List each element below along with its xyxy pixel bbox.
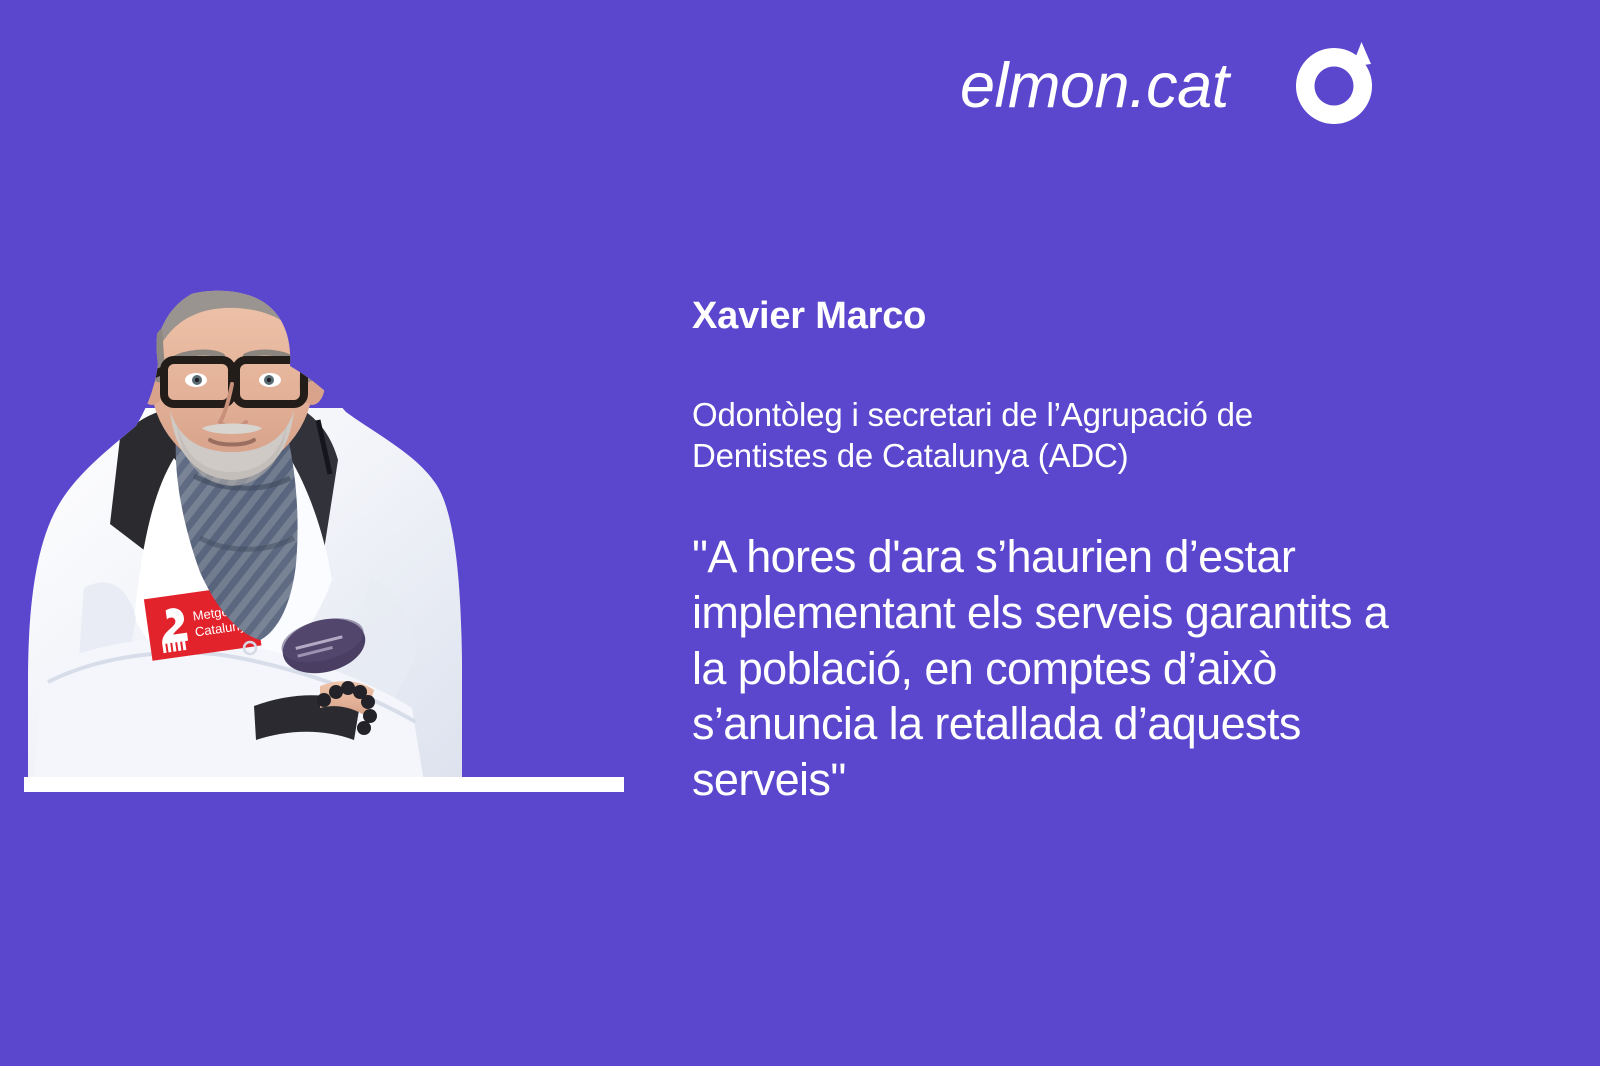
quote-content: Xavier Marco Odontòleg i secretari de l’… (692, 296, 1512, 808)
elmon-circle-logo-icon (1291, 40, 1377, 132)
portrait-photo: Metges de Catalunya (24, 288, 464, 782)
quote-card: elmon.cat (0, 0, 1600, 1066)
brand-lockup: elmon.cat (960, 40, 1377, 132)
person-name: Xavier Marco (692, 296, 1512, 338)
photo-underline-bar (24, 777, 624, 792)
person-role: Odontòleg i secretari de l’Agrupació de … (692, 394, 1392, 477)
pull-quote: "A hores d'ara s’haurien d’estar impleme… (692, 529, 1404, 808)
portrait-image: Metges de Catalunya (24, 288, 464, 782)
elmon-wordmark: elmon.cat (960, 55, 1229, 118)
